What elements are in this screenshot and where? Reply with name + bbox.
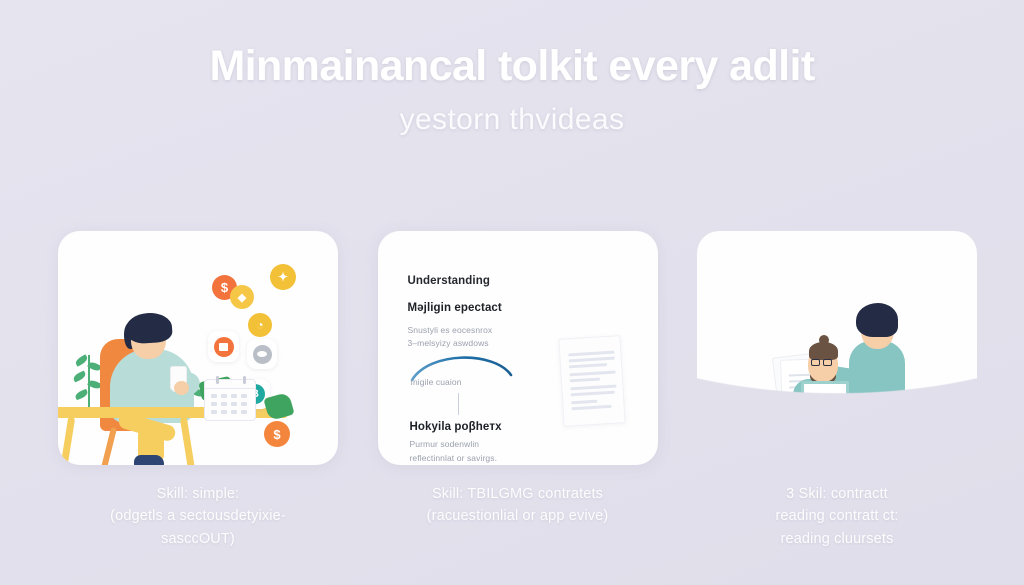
person-hair xyxy=(125,311,173,344)
arc-chart-caption: Inigile cuaion xyxy=(411,377,462,387)
shield-coin-icon: ◆ xyxy=(230,285,254,309)
person-hand xyxy=(174,381,189,395)
seal-coin-icon: ● xyxy=(820,394,837,411)
page-title: Minmainancal tolkit every adlit xyxy=(0,42,1024,90)
card-column-contracts: ● 3 Skil: contractt reading contratt ct:… xyxy=(697,231,977,541)
caption-line: (racuestionlial or app evive) xyxy=(384,505,652,527)
panel-heading-1: Understanding xyxy=(408,275,658,287)
card-caption-budgeting: Skill: simple: (odgetls a sectousdetyixi… xyxy=(58,483,338,550)
desk-leg-left xyxy=(60,417,75,465)
card-column-reading-statements: Understanding Məjligin epectact Snustyli… xyxy=(378,231,658,541)
illustration-person-at-desk: $ ◆ ✦ ◔ Β xyxy=(58,231,338,465)
glasses-icon-left xyxy=(811,359,820,366)
document-sheet-icon xyxy=(558,335,625,427)
calendar-icon xyxy=(204,379,256,421)
card-caption-contracts: 3 Skil: contractt reading contratt ct: r… xyxy=(697,483,977,550)
glasses-icon-right xyxy=(823,359,832,366)
card-column-budgeting: $ ◆ ✦ ◔ Β xyxy=(58,231,338,541)
card-caption-reading-statements: Skill: TBILGMG contratets (racuestionlia… xyxy=(378,483,658,528)
standing-person-leg-left xyxy=(853,413,872,465)
front-person-hand-right xyxy=(841,407,855,421)
caption-line: reading cluursets xyxy=(703,528,971,550)
panel-heading-3: Hokyila роβһeтx xyxy=(410,421,502,433)
dollar-coin-icon-2: $ xyxy=(264,421,290,447)
page-header: Minmainancal tolkit every adlit yestorn … xyxy=(0,42,1024,138)
standing-person-leg-right xyxy=(877,413,896,465)
person-shoe xyxy=(134,455,164,465)
chair-leg-left xyxy=(101,427,117,465)
wallet-tile-icon xyxy=(208,331,239,362)
card-budgeting[interactable]: $ ◆ ✦ ◔ Β xyxy=(58,231,338,465)
panel-heading-2: Məjligin epectact xyxy=(408,302,658,314)
panel-paragraph-2-line: reflectinnlat or savirgs. xyxy=(410,451,498,465)
front-person-hair-bun xyxy=(819,335,829,345)
star-coin-icon: ✦ xyxy=(270,264,296,290)
caption-line: Skill: simple: xyxy=(64,483,332,505)
desk-leg-right xyxy=(180,417,195,465)
panel-paragraph-2-line: Purmur sodenwlin xyxy=(410,437,498,451)
panel-paragraph-2: Purmur sodenwlin reflectinnlat or savirg… xyxy=(410,437,498,465)
illustration-two-people-reviewing-documents: ● xyxy=(697,231,977,465)
illustration-infographic-panel: Understanding Məjligin epectact Snustyli… xyxy=(378,231,658,465)
caption-line: (odgetls a sectousdetyixie- xyxy=(64,505,332,527)
front-person-hand-left xyxy=(797,407,811,421)
page-subtitle: yestorn thvideas xyxy=(0,102,1024,138)
chart-tick-line xyxy=(458,393,459,415)
card-row: $ ◆ ✦ ◔ Β xyxy=(58,231,977,541)
card-contracts[interactable]: ● xyxy=(697,231,977,465)
card-reading-statements[interactable]: Understanding Məjligin epectact Snustyli… xyxy=(378,231,658,465)
caption-line: Skill: TBILGMG contratets xyxy=(384,483,652,505)
cloud-tile-icon xyxy=(247,339,277,369)
caption-line: 3 Skil: contractt xyxy=(703,483,971,505)
caption-line: sasccOUT) xyxy=(64,528,332,550)
clock-coin-icon: ◔ xyxy=(248,313,272,337)
standing-person-hair xyxy=(856,303,898,337)
caption-line: reading contratt ct: xyxy=(703,505,971,527)
